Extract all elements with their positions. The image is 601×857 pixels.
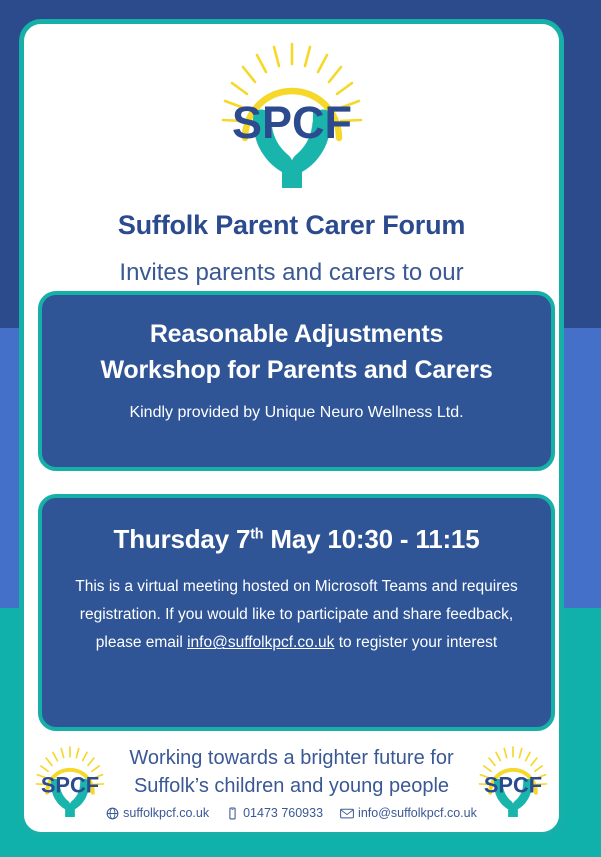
workshop-title-line-2: Workshop for Parents and Carers [60, 353, 533, 389]
registration-email-link[interactable]: info@suffolkpcf.co.uk [187, 634, 334, 651]
workshop-title-line-1: Reasonable Adjustments [60, 317, 533, 353]
poster-card: SPCF Suffolk Parent Carer Forum Invites … [19, 19, 564, 837]
workshop-panel: Reasonable Adjustments Workshop for Pare… [38, 291, 555, 471]
registration-text-after: to register your interest [334, 634, 497, 651]
logo-text: SPCF [484, 773, 542, 798]
workshop-provider: Kindly provided by Unique Neuro Wellness… [60, 404, 533, 422]
logo-text: SPCF [41, 773, 99, 798]
event-datetime: Thursday 7th May 10:30 - 11:15 [66, 524, 527, 555]
contact-phone[interactable]: 01473 760933 [226, 806, 323, 820]
contact-row: suffolkpcf.co.uk 01473 760933 info@suffo… [24, 806, 559, 820]
logo-text: SPCF [231, 97, 351, 148]
page-title: Suffolk Parent Carer Forum [24, 210, 559, 241]
footer: SPCF Working towards a brighter future f… [24, 740, 559, 834]
contact-website-text: suffolkpcf.co.uk [123, 806, 209, 820]
contact-phone-text: 01473 760933 [243, 806, 323, 820]
envelope-icon [340, 807, 354, 820]
contact-email-text: info@suffolkpcf.co.uk [358, 806, 477, 820]
spcf-logo-graphic: SPCF [217, 42, 367, 190]
registration-info: This is a virtual meeting hosted on Micr… [66, 573, 527, 658]
event-day: Thursday 7 [114, 524, 251, 554]
footer-tagline-line-1: Working towards a brighter future for [110, 744, 473, 772]
spcf-logo: SPCF [217, 42, 367, 190]
workshop-title: Reasonable Adjustments Workshop for Pare… [60, 317, 533, 388]
footer-tagline: Working towards a brighter future for Su… [110, 744, 473, 801]
date-panel: Thursday 7th May 10:30 - 11:15 This is a… [38, 494, 555, 731]
contact-website[interactable]: suffolkpcf.co.uk [106, 806, 209, 820]
event-ordinal: th [250, 526, 263, 542]
event-date-rest: May 10:30 - 11:15 [263, 524, 479, 554]
phone-icon [226, 807, 239, 820]
contact-email[interactable]: info@suffolkpcf.co.uk [340, 806, 477, 820]
logo-container: SPCF [24, 42, 559, 190]
invitation-line: Invites parents and carers to our [24, 259, 559, 287]
globe-icon [106, 807, 119, 820]
footer-tagline-line-2: Suffolk’s children and young people [110, 772, 473, 800]
